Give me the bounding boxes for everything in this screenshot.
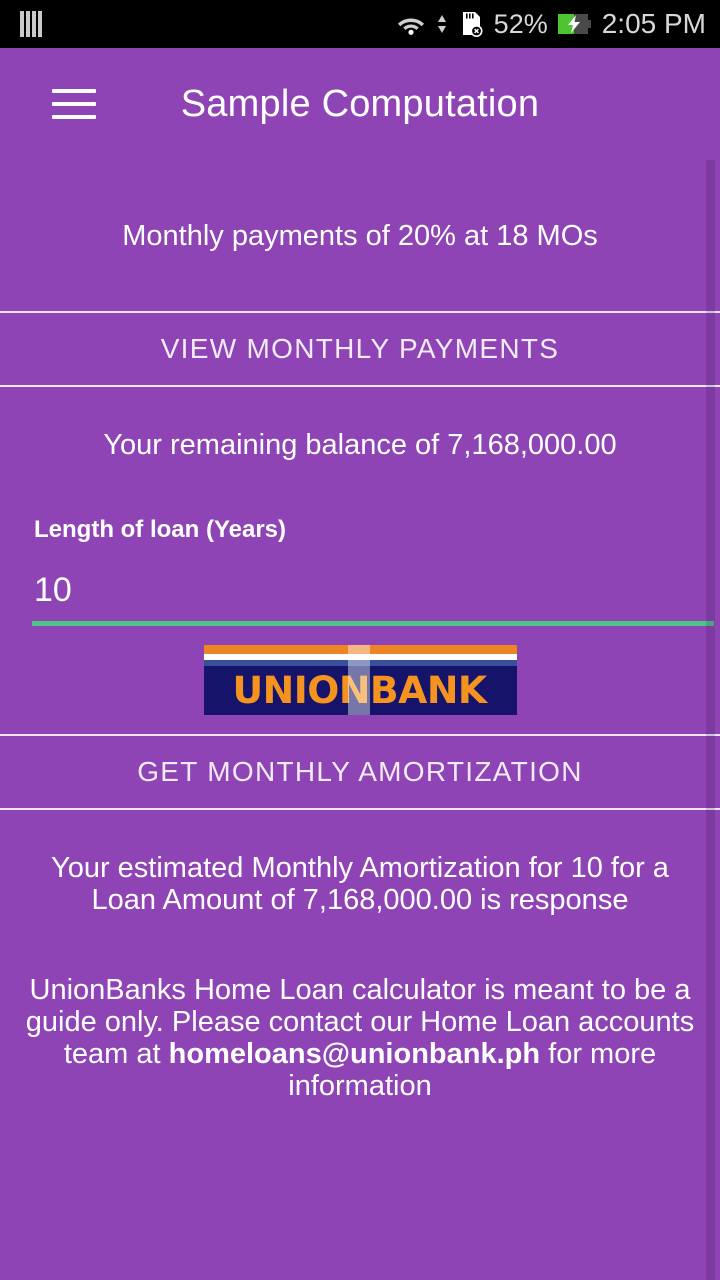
disclaimer-email: homeloans@unionbank.ph: [169, 1038, 540, 1070]
logo-body: UNIONBANK: [204, 666, 517, 715]
loan-length-field-group: Length of loan (Years) 10: [0, 516, 720, 626]
sdcard-removed-icon: [458, 10, 484, 38]
loan-length-input[interactable]: 10: [34, 568, 686, 612]
disclaimer-text: UnionBanks Home Loan calculator is meant…: [22, 974, 698, 1102]
hamburger-menu-icon[interactable]: [52, 84, 108, 124]
monthly-payments-info-text: Monthly payments of 20% at 18 MOs: [122, 216, 598, 256]
page-title: Sample Computation: [0, 83, 720, 126]
disclaimer-area: UnionBanks Home Loan calculator is meant…: [0, 916, 720, 1102]
data-transfer-arrows-icon: [436, 12, 448, 36]
vertical-scrollbar[interactable]: [706, 160, 715, 1280]
amortization-result-text: Your estimated Monthly Amortization for …: [16, 852, 704, 916]
scroll-content: Monthly payments of 20% at 18 MOs VIEW M…: [0, 160, 720, 1280]
remaining-balance-panel: Your remaining balance of 7,168,000.00: [0, 387, 720, 502]
status-bar: 52% 2:05 PM: [0, 0, 720, 48]
app-bar: Sample Computation: [0, 48, 720, 160]
logo-stripe-orange: [204, 645, 517, 654]
unionbank-logo: UNIONBANK: [204, 645, 517, 715]
get-monthly-amortization-button[interactable]: GET MONTHLY AMORTIZATION: [0, 736, 720, 808]
battery-percent-label: 52%: [494, 9, 548, 40]
loan-length-label: Length of loan (Years): [34, 516, 686, 544]
app-screen: 52% 2:05 PM Sample Computation Monthly p…: [0, 0, 720, 1280]
signal-bars-icon: [20, 11, 42, 37]
logo-wordmark: UNIONBANK: [233, 669, 487, 712]
unionbank-logo-area: UNIONBANK: [0, 626, 720, 734]
battery-charging-icon: [558, 13, 592, 35]
monthly-payments-info-panel: Monthly payments of 20% at 18 MOs: [0, 160, 720, 311]
clock-label: 2:05 PM: [602, 8, 706, 40]
remaining-balance-text: Your remaining balance of 7,168,000.00: [103, 425, 616, 465]
scrollbar-thumb[interactable]: [706, 160, 715, 1280]
amortization-result-area: Your estimated Monthly Amortization for …: [0, 810, 720, 916]
status-bar-left: [20, 11, 42, 37]
wifi-icon: [396, 12, 426, 36]
status-bar-right: 52% 2:05 PM: [396, 8, 706, 40]
view-monthly-payments-button[interactable]: VIEW MONTHLY PAYMENTS: [0, 313, 720, 385]
